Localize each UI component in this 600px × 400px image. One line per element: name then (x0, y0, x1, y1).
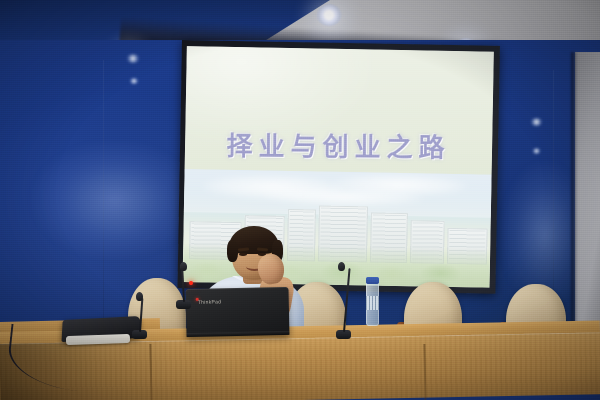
slide-title-text: 择业与创业之路 (185, 126, 492, 165)
thinkpad-logo-text: ThinkPad (198, 299, 222, 305)
speaker-hair-left (227, 240, 238, 262)
right-grey-wall (575, 52, 600, 355)
wall-seam-2 (553, 70, 554, 320)
lecture-hall-photo: 择业与创业之路 ThinkPad (0, 0, 600, 400)
wall-spot-1 (126, 54, 140, 63)
wall-spot-4 (532, 148, 541, 154)
thinkpad-laptop: ThinkPad (186, 287, 290, 337)
water-bottle-cap (366, 277, 379, 284)
microphone-left-head (136, 292, 143, 301)
water-bottle-label (366, 296, 379, 310)
microphone-indicator-led (189, 281, 193, 285)
microphone-right-head (338, 262, 345, 271)
right-wall-edge (571, 52, 577, 355)
wall-seam-1 (103, 60, 104, 330)
wall-spot-3 (530, 118, 543, 126)
microphone-center-head (180, 262, 187, 271)
speaker-eye-left (239, 253, 247, 256)
downlight-2-icon (316, 4, 342, 26)
